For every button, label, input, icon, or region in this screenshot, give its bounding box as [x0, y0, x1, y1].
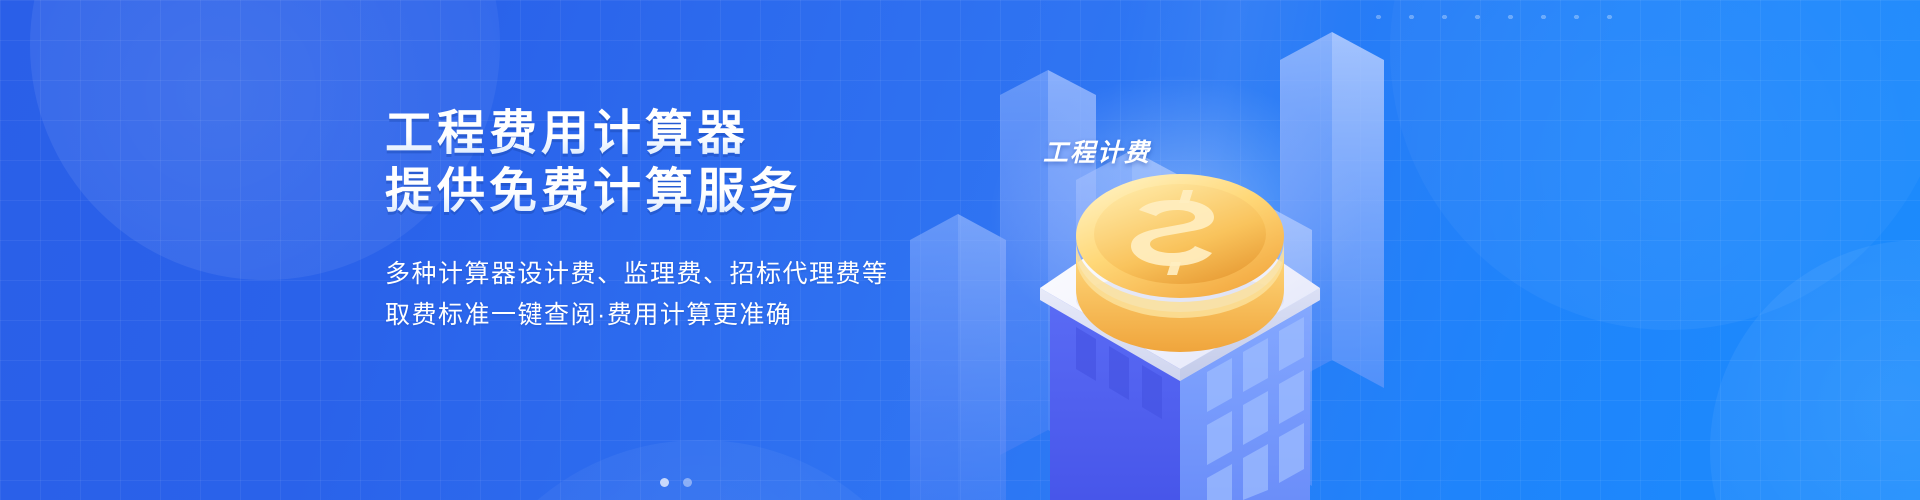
carousel-pagination[interactable]: [660, 478, 692, 487]
illustration-label: 工程计费: [1043, 133, 1151, 169]
carousel-dot-1[interactable]: [660, 478, 669, 487]
coin-building-illustration: 工程计费: [880, 0, 1580, 500]
hero-banner: 工程费用计算器 提供免费计算服务 多种计算器设计费、监理费、招标代理费等 取费标…: [0, 0, 1920, 500]
illustration-svg: [880, 0, 1580, 500]
gold-coin-dollar-icon: [1076, 174, 1284, 352]
carousel-dot-2[interactable]: [683, 478, 692, 487]
